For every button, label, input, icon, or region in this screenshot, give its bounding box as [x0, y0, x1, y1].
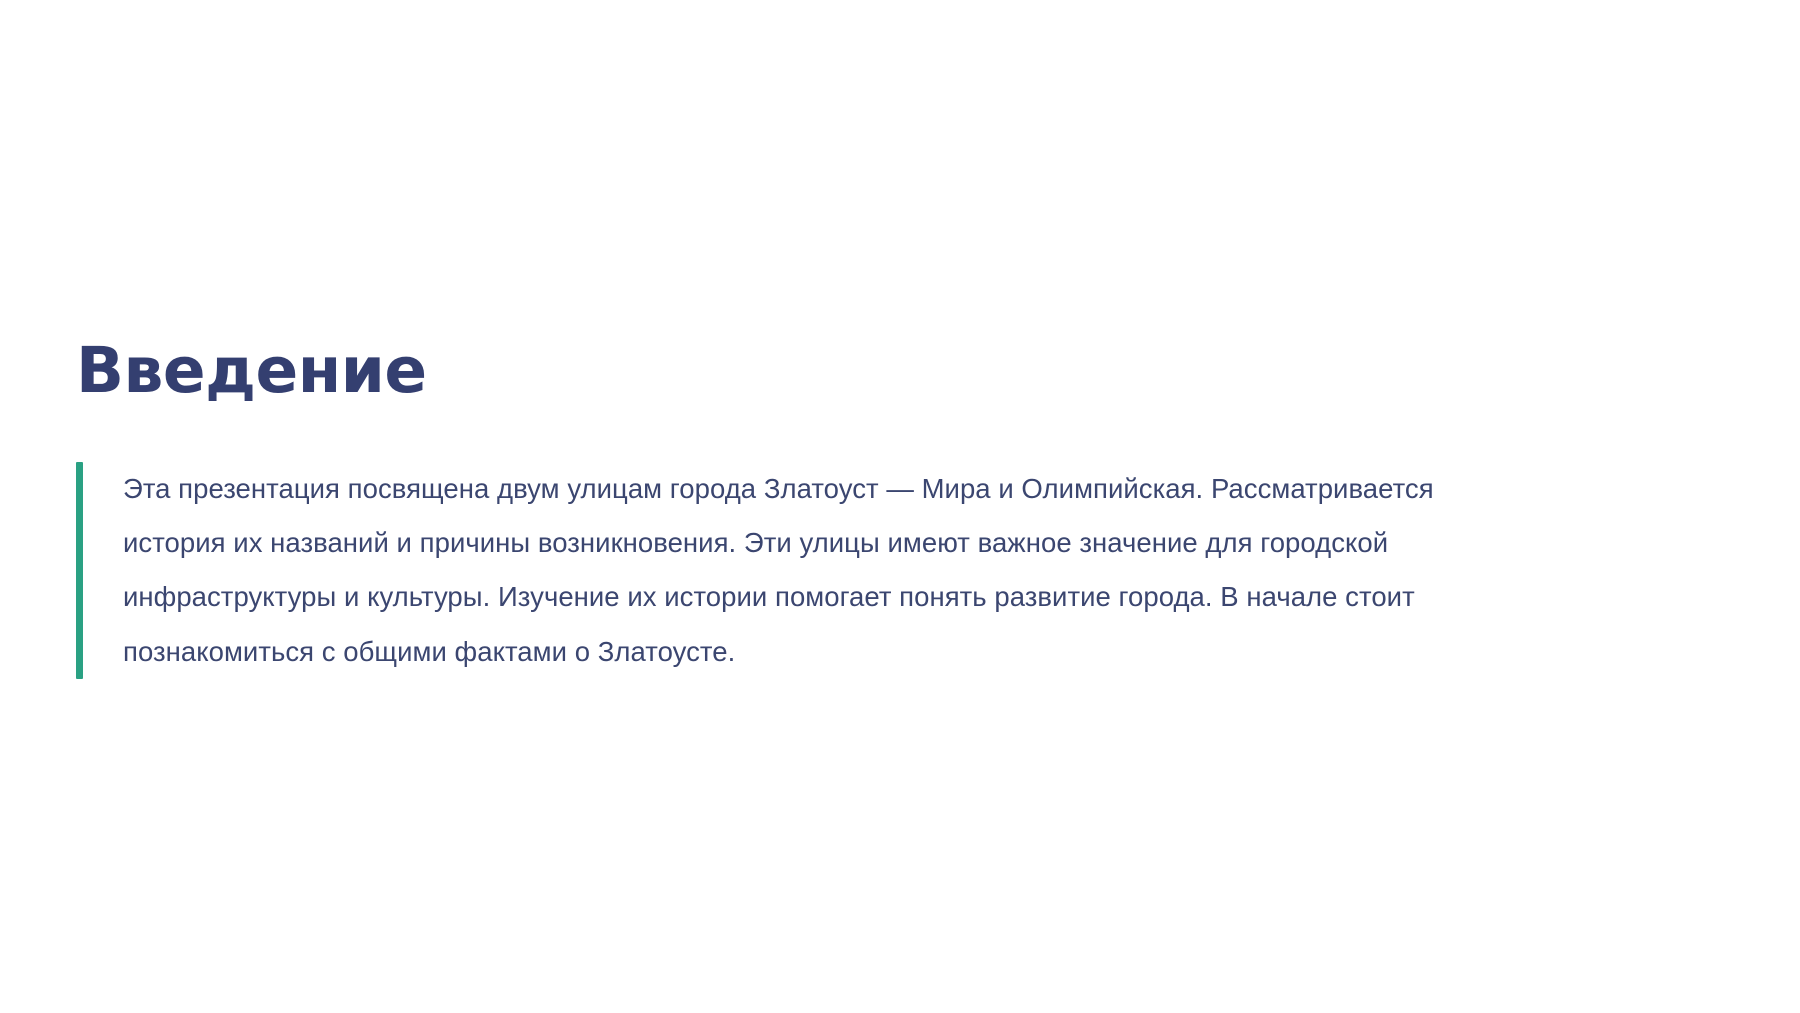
- presentation-slide: Введение Эта презентация посвящена двум …: [0, 0, 1800, 1013]
- slide-content-area: Введение Эта презентация посвящена двум …: [0, 0, 1800, 1013]
- slide-body-paragraph: Эта презентация посвящена двум улицам го…: [123, 462, 1533, 679]
- body-content-block: Эта презентация посвящена двум улицам го…: [76, 462, 1726, 679]
- body-text-container: Эта презентация посвящена двум улицам го…: [83, 462, 1726, 679]
- title-block: Введение: [76, 338, 1726, 404]
- green-accent-bar: [76, 462, 83, 679]
- slide-title: Введение: [76, 338, 1726, 404]
